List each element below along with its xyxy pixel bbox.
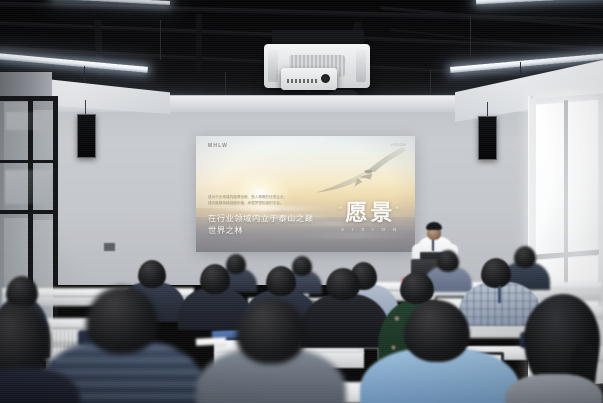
projector-label [287, 79, 317, 83]
window-blind [536, 102, 564, 254]
slide-keyword: “愿景” [339, 202, 402, 224]
speaker-hanger [85, 100, 86, 114]
partition-transom [0, 210, 58, 214]
attendee-head [404, 300, 470, 362]
attendee-head [326, 268, 360, 300]
conference-room-photo: MHLW VISION 成为行业领域内值得信赖、受人尊敬的优秀企业， 成为能够持… [0, 0, 603, 403]
projection-screen: MHLW VISION 成为行业领域内值得信赖、受人尊敬的优秀企业， 成为能够持… [196, 136, 415, 252]
partition-transom [0, 160, 58, 163]
ac-vent [268, 50, 278, 82]
attendee-head [138, 260, 166, 288]
attendee-head [481, 258, 511, 288]
slide-logo: MHLW [208, 143, 228, 149]
partition-mullion [0, 96, 58, 101]
window-blind [568, 100, 598, 252]
attendee-head [437, 250, 459, 272]
attendee-head [200, 264, 230, 294]
light-hanger [160, 20, 161, 60]
attendee-head [400, 272, 434, 304]
slide-headline-line2: 世界之林 [208, 225, 335, 238]
glass-reflection [5, 170, 51, 204]
wall-speaker-left [77, 114, 96, 158]
ceiling-duct [196, 14, 202, 74]
attendee-head [6, 276, 38, 308]
quote-close: ” [395, 207, 402, 214]
projector-lens [321, 74, 330, 83]
light-hanger [470, 16, 471, 58]
attendee-head [292, 256, 312, 276]
glass-reflection [6, 112, 50, 130]
attendee-head [226, 254, 246, 274]
ac-vent [356, 50, 366, 82]
slide-keyword-english: V I S I O N [339, 227, 402, 232]
slide-headline: 在行业领域内立于泰山之巅 世界之林 [208, 213, 335, 238]
slide-keyword-block: “愿景” V I S I O N [339, 202, 402, 232]
slide-subtitle: 成为行业领域内值得信赖、受人尊敬的优秀企业， 成为能够持续创造价值、承载梦想的组… [208, 194, 322, 207]
slide-headline-line1: 在行业领域内立于泰山之巅 [208, 213, 335, 226]
attendee-head [266, 266, 296, 296]
presenter-hair [426, 222, 442, 230]
lanyard [498, 286, 501, 303]
attendee-head [514, 246, 536, 268]
attendee-body [300, 294, 390, 348]
slide-keyword-text: 愿景 [345, 200, 395, 225]
wall-outlet [104, 243, 115, 251]
wall-speaker-right [478, 116, 497, 160]
speaker-hanger [487, 102, 488, 116]
slide-corner-badge: VISION [390, 143, 406, 147]
presenter-lanyard [432, 238, 434, 252]
slide-subtitle-line: 成为能够持续创造价值、承载梦想的组织平台。 [208, 200, 322, 206]
slide-eagle-graphic [310, 142, 411, 202]
